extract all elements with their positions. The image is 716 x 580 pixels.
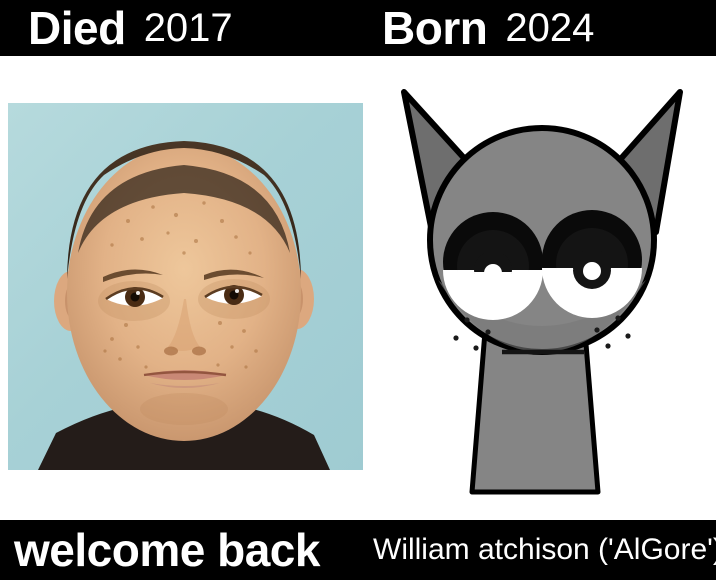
born-label: Born: [382, 5, 487, 51]
cat-illustration: [380, 80, 710, 505]
born-group: Born 2024: [382, 0, 594, 56]
mugshot-photo: [8, 103, 363, 470]
died-group: Died 2017: [28, 0, 233, 56]
died-label: Died: [28, 5, 126, 51]
meme-image: Died 2017 Born 2024: [0, 0, 716, 580]
mugshot-illustration: [8, 103, 363, 470]
cat-eye-left: [443, 212, 543, 320]
born-year: 2024: [505, 8, 594, 48]
welcome-back-text: welcome back: [14, 527, 320, 573]
cat-eye-right: [542, 210, 642, 318]
subject-name-text: William atchison ('AlGore'): [373, 535, 716, 565]
bottom-banner: welcome back William atchison ('AlGore'): [0, 520, 716, 580]
top-banner: Died 2017 Born 2024: [0, 0, 716, 56]
died-year: 2017: [144, 8, 233, 48]
cat-svg: [380, 80, 710, 505]
